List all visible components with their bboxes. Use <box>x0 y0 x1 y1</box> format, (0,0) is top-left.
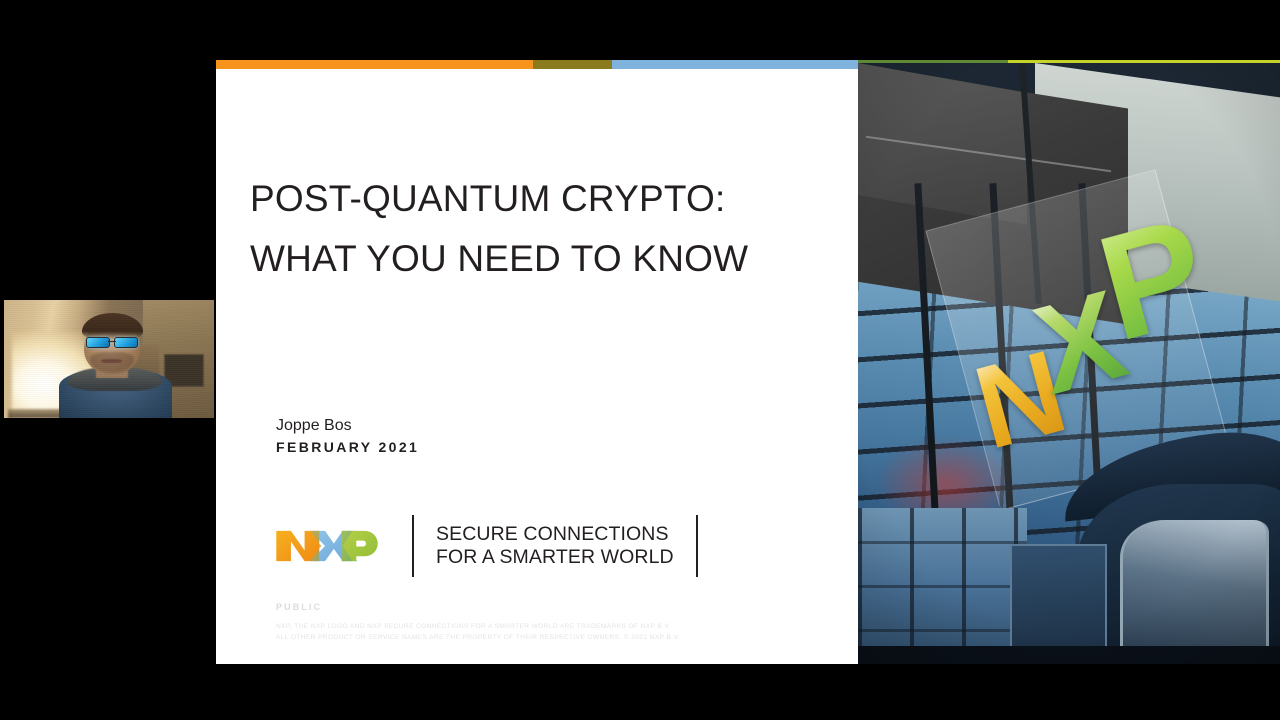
photo-lower-glazing-grid <box>858 508 1027 664</box>
slide-title-line-1: POST-QUANTUM CRYPTO: <box>250 169 840 229</box>
nxp-logo <box>274 526 382 566</box>
lockup-divider-left <box>412 515 414 577</box>
glasses-icon <box>86 337 139 346</box>
participant-video-tile[interactable] <box>4 300 214 418</box>
accent-segment-olive <box>533 60 612 69</box>
glasses-left-lens <box>86 337 110 348</box>
classification-label: PUBLIC <box>276 602 322 612</box>
tagline-line-2: FOR A SMARTER WORLD <box>436 546 674 569</box>
slide-title-line-2: WHAT YOU NEED TO KNOW <box>250 229 840 289</box>
brand-tagline: SECURE CONNECTIONS FOR A SMARTER WORLD <box>436 523 674 569</box>
legal-line-2: ALL OTHER PRODUCT OR SERVICE NAMES ARE T… <box>276 633 680 644</box>
nxp-building-photo: N X P <box>858 63 1280 664</box>
photo-revolving-door <box>1120 520 1269 664</box>
person-mouth <box>101 359 122 363</box>
photo-bottom-shadow <box>858 646 1280 664</box>
participant-filmstrip <box>0 0 216 720</box>
webcam-feed <box>4 300 214 418</box>
glasses-bridge <box>108 341 116 343</box>
accent-segment-orange <box>216 60 533 69</box>
accent-segment-blue <box>612 60 858 69</box>
shared-slide[interactable]: POST-QUANTUM CRYPTO: WHAT YOU NEED TO KN… <box>216 60 1280 664</box>
video-call-stage: POST-QUANTUM CRYPTO: WHAT YOU NEED TO KN… <box>0 0 1280 720</box>
author-name: Joppe Bos <box>276 414 419 437</box>
glasses-right-lens <box>114 337 138 348</box>
author-block: Joppe Bos FEBRUARY 2021 <box>276 414 419 458</box>
legal-notice: NXP, THE NXP LOGO AND NXP SECURE CONNECT… <box>276 622 680 643</box>
presentation-date: FEBRUARY 2021 <box>276 437 419 458</box>
slide-title: POST-QUANTUM CRYPTO: WHAT YOU NEED TO KN… <box>250 169 840 289</box>
slide-content-panel: POST-QUANTUM CRYPTO: WHAT YOU NEED TO KN… <box>216 69 858 664</box>
brand-lockup: SECURE CONNECTIONS FOR A SMARTER WORLD <box>274 515 698 577</box>
lockup-divider-right <box>696 515 698 577</box>
tagline-line-1: SECURE CONNECTIONS <box>436 523 674 546</box>
legal-line-1: NXP, THE NXP LOGO AND NXP SECURE CONNECT… <box>276 622 680 633</box>
